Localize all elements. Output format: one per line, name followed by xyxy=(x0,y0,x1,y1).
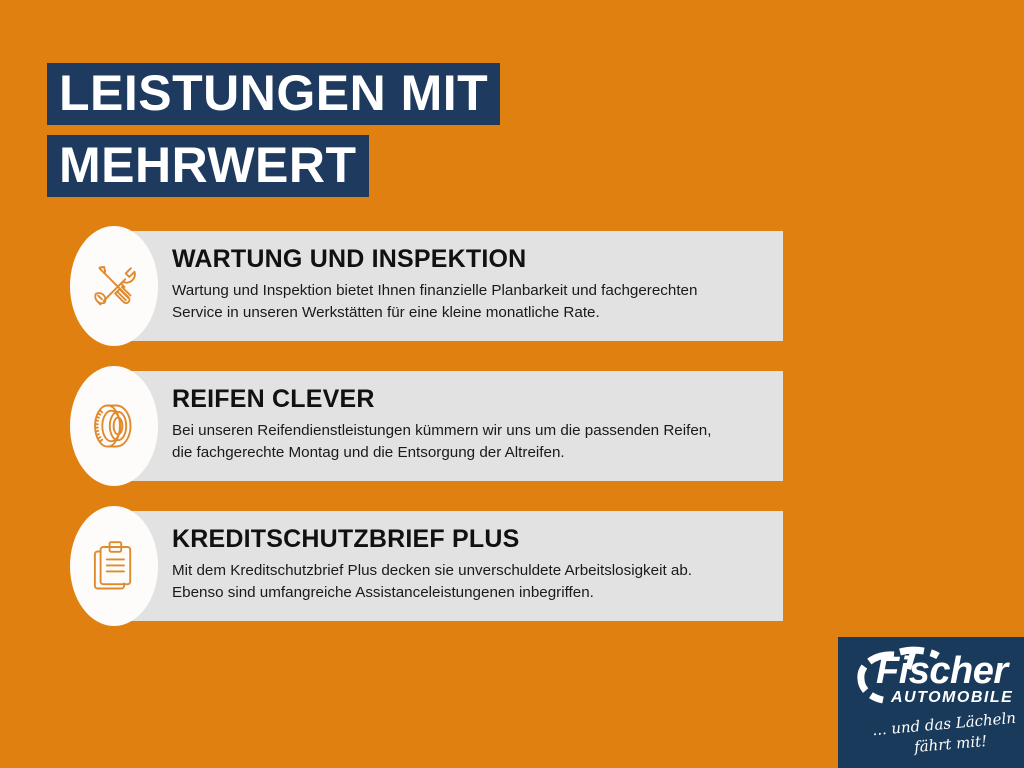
service-card-wartung-und-inspektion[interactable]: WARTUNG UND INSPEKTION Wartung und Inspe… xyxy=(100,231,783,341)
service-card-kreditschutzbrief-plus[interactable]: KREDITSCHUTZBRIEF PLUS Mit dem Kreditsch… xyxy=(100,511,783,621)
page-title-line-2: MEHRWERT xyxy=(47,135,369,197)
logo-brand-text: Fischer xyxy=(876,651,1008,691)
logo-tagline: ... und das Lächeln fährt mit! xyxy=(866,715,1016,761)
card-description-line-1: Mit dem Kreditschutzbrief Plus decken si… xyxy=(172,560,765,582)
card-description: Mit dem Kreditschutzbrief Plus decken si… xyxy=(172,560,765,604)
page-title-line-1-wrap: LEISTUNGEN MIT xyxy=(47,63,500,125)
card-title: WARTUNG UND INSPEKTION xyxy=(172,245,765,273)
service-card-reifen-clever[interactable]: REIFEN CLEVER Bei unseren Reifendienstle… xyxy=(100,371,783,481)
card-description-line-1: Bei unseren Reifendienstleistungen kümme… xyxy=(172,420,765,442)
page-title: LEISTUNGEN MIT MEHRWERT xyxy=(47,63,500,197)
card-description: Wartung und Inspektion bietet Ihnen fina… xyxy=(172,280,765,324)
card-icon-badge xyxy=(70,366,158,486)
company-logo[interactable]: Fischer AUTOMOBILE ... und das Lächeln f… xyxy=(838,637,1024,768)
card-icon-badge xyxy=(70,226,158,346)
wrench-screwdriver-icon xyxy=(87,259,141,313)
logo-tagline-line-2: fährt mit! xyxy=(913,732,987,756)
clipboard-icon xyxy=(88,539,140,593)
card-description: Bei unseren Reifendienstleistungen kümme… xyxy=(172,420,765,464)
card-text-block: REIFEN CLEVER Bei unseren Reifendienstle… xyxy=(172,385,765,464)
page-title-line-2-wrap: MEHRWERT xyxy=(47,135,500,197)
card-title: KREDITSCHUTZBRIEF PLUS xyxy=(172,525,765,553)
logo-subtitle-text: AUTOMOBILE xyxy=(891,689,1013,707)
tire-icon xyxy=(87,399,141,453)
card-icon-badge xyxy=(70,506,158,626)
card-description-line-2: Ebenso sind umfangreiche Assistanceleist… xyxy=(172,582,765,604)
card-description-line-2: die fachgerechte Montag und die Entsorgu… xyxy=(172,442,765,464)
card-description-line-1: Wartung und Inspektion bietet Ihnen fina… xyxy=(172,280,765,302)
card-title: REIFEN CLEVER xyxy=(172,385,765,413)
page-title-line-1: LEISTUNGEN MIT xyxy=(47,63,500,125)
card-text-block: KREDITSCHUTZBRIEF PLUS Mit dem Kreditsch… xyxy=(172,525,765,604)
card-description-line-2: Service in unseren Werkstätten für eine … xyxy=(172,302,765,324)
card-text-block: WARTUNG UND INSPEKTION Wartung und Inspe… xyxy=(172,245,765,324)
